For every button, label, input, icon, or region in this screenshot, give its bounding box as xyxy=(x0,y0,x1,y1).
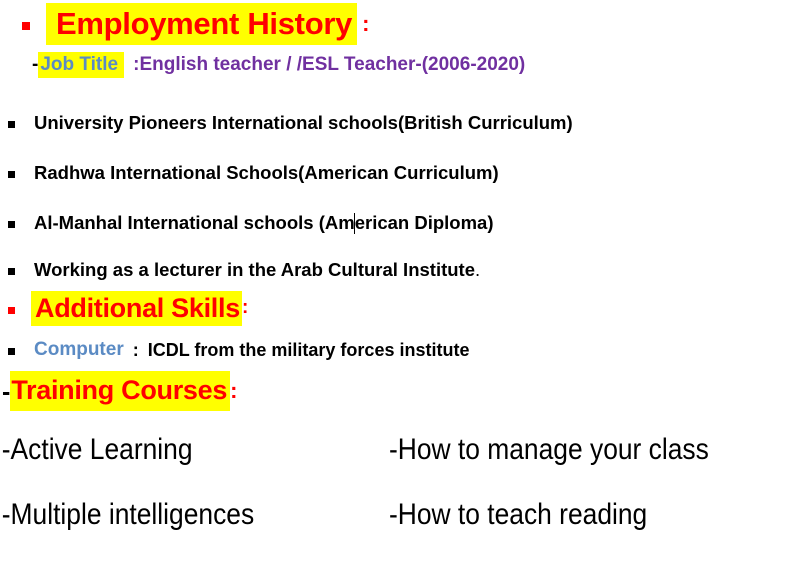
list-item-label-after-caret: erican Diploma) xyxy=(355,212,494,234)
job-title-row: - Job Title : English teacher / /ESL Tea… xyxy=(0,50,796,80)
list-item: Working as a lecturer in the Arab Cultur… xyxy=(0,255,796,285)
employment-history-heading-text: Employment History xyxy=(46,3,357,45)
job-title-value: English teacher / /ESL Teacher-(2006-202… xyxy=(139,54,525,76)
job-title-label: Job Title xyxy=(38,52,124,78)
square-bullet-icon xyxy=(8,307,15,314)
list-item-label-before-caret: Al-Manhal International schools (Am xyxy=(34,212,355,234)
course-row: -Active Learning -How to manage your cla… xyxy=(0,430,700,470)
computer-skill-separator: : xyxy=(133,340,139,361)
employment-history-heading-colon: : xyxy=(362,11,369,37)
training-courses-heading-colon: : xyxy=(230,378,237,404)
list-item: Al-Manhal International schools (America… xyxy=(0,208,796,238)
list-item-period: . xyxy=(475,259,480,281)
resume-page: Employment History : - Job Title : Engli… xyxy=(0,0,796,568)
training-courses-dash: - xyxy=(2,378,10,407)
computer-skill-row: Computer : ICDL from the military forces… xyxy=(0,336,796,364)
course-item-left: -Multiple intelligences xyxy=(0,498,389,532)
course-item-right: -How to teach reading xyxy=(389,498,647,532)
training-courses-heading-text: Training Courses xyxy=(10,371,230,411)
additional-skills-heading-row: Additional Skills : xyxy=(0,290,796,326)
course-row: -Multiple intelligences -How to teach re… xyxy=(0,495,700,535)
course-item-left: -Active Learning xyxy=(0,433,389,467)
square-bullet-icon xyxy=(8,348,15,355)
list-item-label: Radhwa International Schools(American Cu… xyxy=(34,162,499,184)
list-item-label: Working as a lecturer in the Arab Cultur… xyxy=(34,259,475,281)
list-item: University Pioneers International school… xyxy=(0,108,796,138)
square-bullet-icon xyxy=(8,221,15,228)
square-bullet-icon xyxy=(8,268,15,275)
list-item-label: University Pioneers International school… xyxy=(34,112,573,134)
training-courses-heading-row: - Training Courses : xyxy=(0,372,796,410)
employment-history-heading-row: Employment History : xyxy=(0,4,796,44)
computer-skill-value: ICDL from the military forces institute xyxy=(148,340,470,361)
additional-skills-heading-colon: : xyxy=(242,297,248,319)
computer-skill-label: Computer xyxy=(34,339,124,361)
square-bullet-icon xyxy=(8,171,15,178)
list-item: Radhwa International Schools(American Cu… xyxy=(0,158,796,188)
course-item-right: -How to manage your class xyxy=(389,433,709,467)
additional-skills-heading: Additional Skills xyxy=(31,291,242,326)
square-bullet-icon xyxy=(22,22,30,30)
additional-skills-heading-text: Additional Skills xyxy=(31,291,242,326)
employment-history-heading: Employment History xyxy=(46,3,357,45)
training-courses-heading: Training Courses xyxy=(10,371,230,411)
square-bullet-icon xyxy=(8,121,15,128)
